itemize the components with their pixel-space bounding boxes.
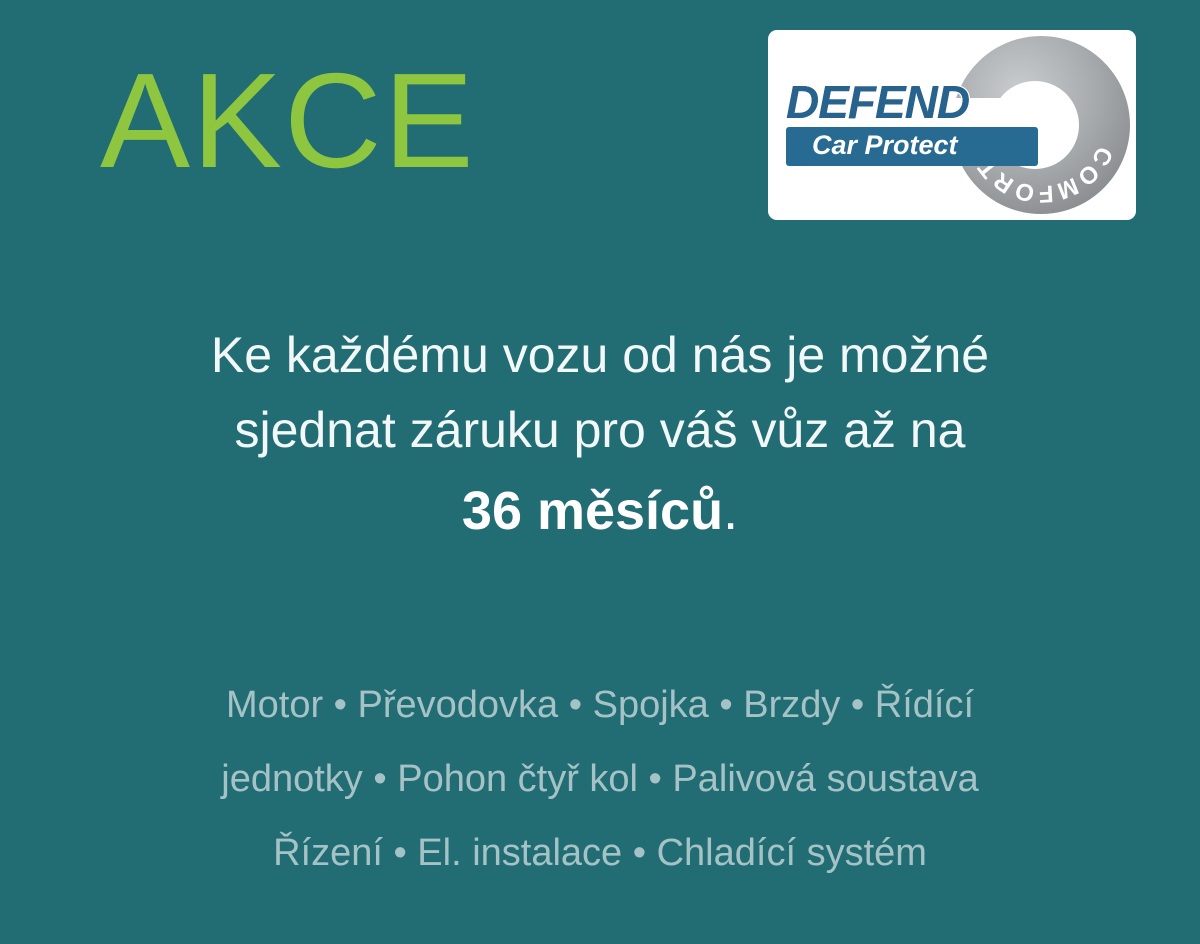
coverage-line-1: Motor • Převodovka • Spojka • Brzdy • Ří…: [60, 668, 1140, 742]
coverage-line-2: jednotky • Pohon čtyř kol • Palivová sou…: [60, 742, 1140, 816]
offer-message-line-2: sjednat záruku pro váš vůz až na: [60, 393, 1140, 468]
defend-logo-card: COMFORT DEFEND Car Protect: [768, 30, 1136, 220]
logo-artwork: COMFORT DEFEND Car Protect: [768, 30, 1136, 220]
tagline-bar: Car Protect: [786, 127, 1038, 166]
offer-duration-value: 36 měsíců: [462, 481, 723, 541]
promo-slide: AKCE: [0, 0, 1200, 944]
brand-name-text: DEFEND: [786, 78, 1046, 126]
offer-message: Ke každému vozu od nás je možné sjednat …: [0, 318, 1200, 554]
offer-duration: 36 měsíců.: [60, 468, 1140, 554]
offer-duration-punctuation: .: [723, 481, 738, 541]
defend-wordmark: DEFEND Car Protect: [786, 78, 1046, 166]
coverage-line-3: Řízení • El. instalace • Chladící systém: [60, 816, 1140, 890]
coverage-list: Motor • Převodovka • Spojka • Brzdy • Ří…: [0, 668, 1200, 890]
offer-message-line-1: Ke každému vozu od nás je možné: [60, 318, 1140, 393]
brand-tagline-text: Car Protect: [812, 130, 958, 160]
page-title: AKCE: [100, 48, 476, 194]
